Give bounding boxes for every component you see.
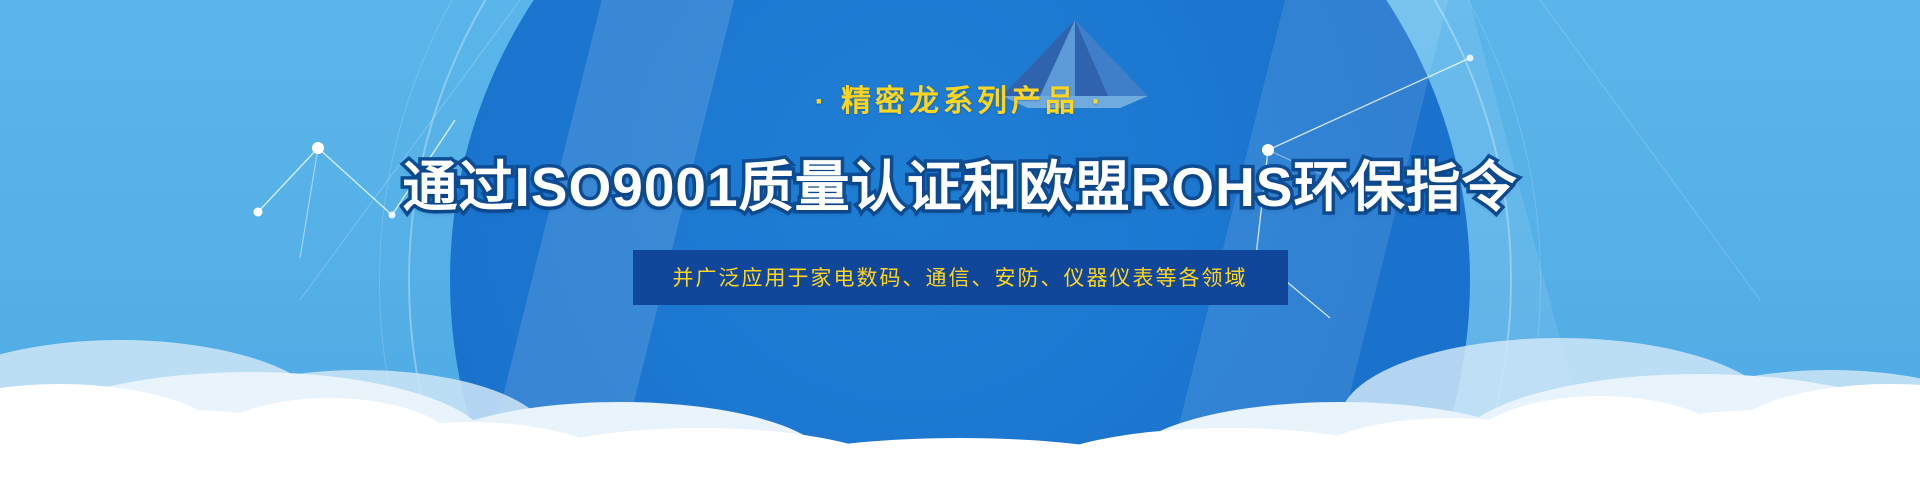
subtitle-bar: 并广泛应用于家电数码、通信、安防、仪器仪表等各领域 xyxy=(633,250,1288,305)
eyebrow-text: · 精密龙系列产品 · xyxy=(815,76,1106,120)
banner-content: · 精密龙系列产品 · 通过ISO9001质量认证和欧盟ROHS环保指令 并广泛… xyxy=(0,0,1920,480)
promo-banner: · 精密龙系列产品 · 通过ISO9001质量认证和欧盟ROHS环保指令 并广泛… xyxy=(0,0,1920,480)
subtitle-text: 并广泛应用于家电数码、通信、安防、仪器仪表等各领域 xyxy=(673,267,1248,290)
headline-text: 通过ISO9001质量认证和欧盟ROHS环保指令 xyxy=(402,142,1517,222)
